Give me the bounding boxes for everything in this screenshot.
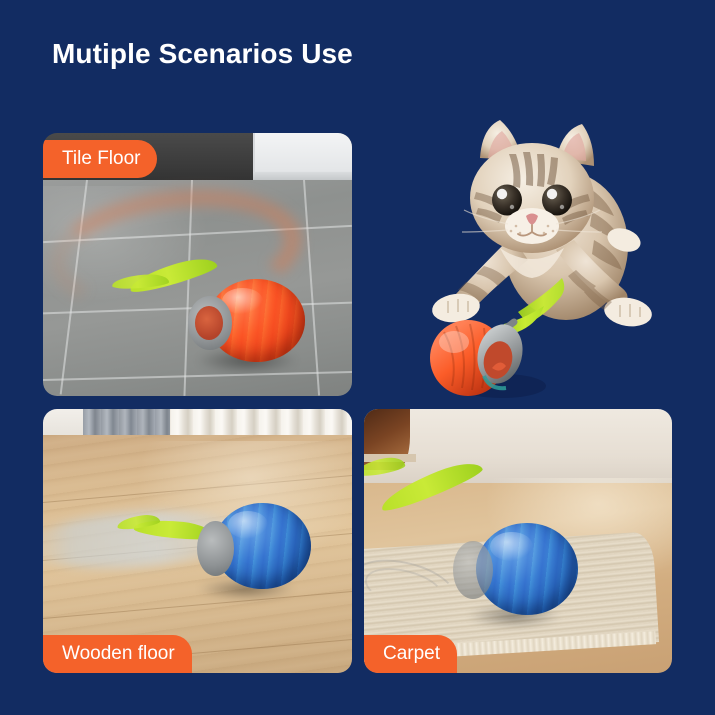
wall [364, 409, 672, 488]
ball-toy [450, 504, 592, 636]
product-feature-panel: Mutiple Scenarios Use [0, 0, 715, 715]
ball-hub [197, 521, 234, 576]
wooden-floor-photo [43, 409, 352, 673]
badge-tile-floor[interactable]: Tile Floor [43, 140, 157, 178]
page-title: Mutiple Scenarios Use [52, 38, 353, 70]
scenario-card-carpet[interactable]: Carpet [364, 409, 672, 673]
kitten-photo [380, 100, 680, 400]
badge-label: Tile Floor [62, 148, 140, 170]
ball-toy [185, 270, 352, 391]
badge-carpet[interactable]: Carpet [364, 635, 457, 673]
badge-label: Wooden floor [62, 643, 175, 665]
ball-toy [191, 496, 333, 607]
ball-hub [453, 541, 493, 599]
badge-label: Carpet [383, 643, 440, 665]
badge-wooden-floor[interactable]: Wooden floor [43, 635, 192, 673]
carpet-photo [364, 409, 672, 673]
scenario-card-tile-floor[interactable]: Tile Floor [43, 133, 352, 396]
scenario-card-wooden-floor[interactable]: Wooden floor [43, 409, 352, 673]
